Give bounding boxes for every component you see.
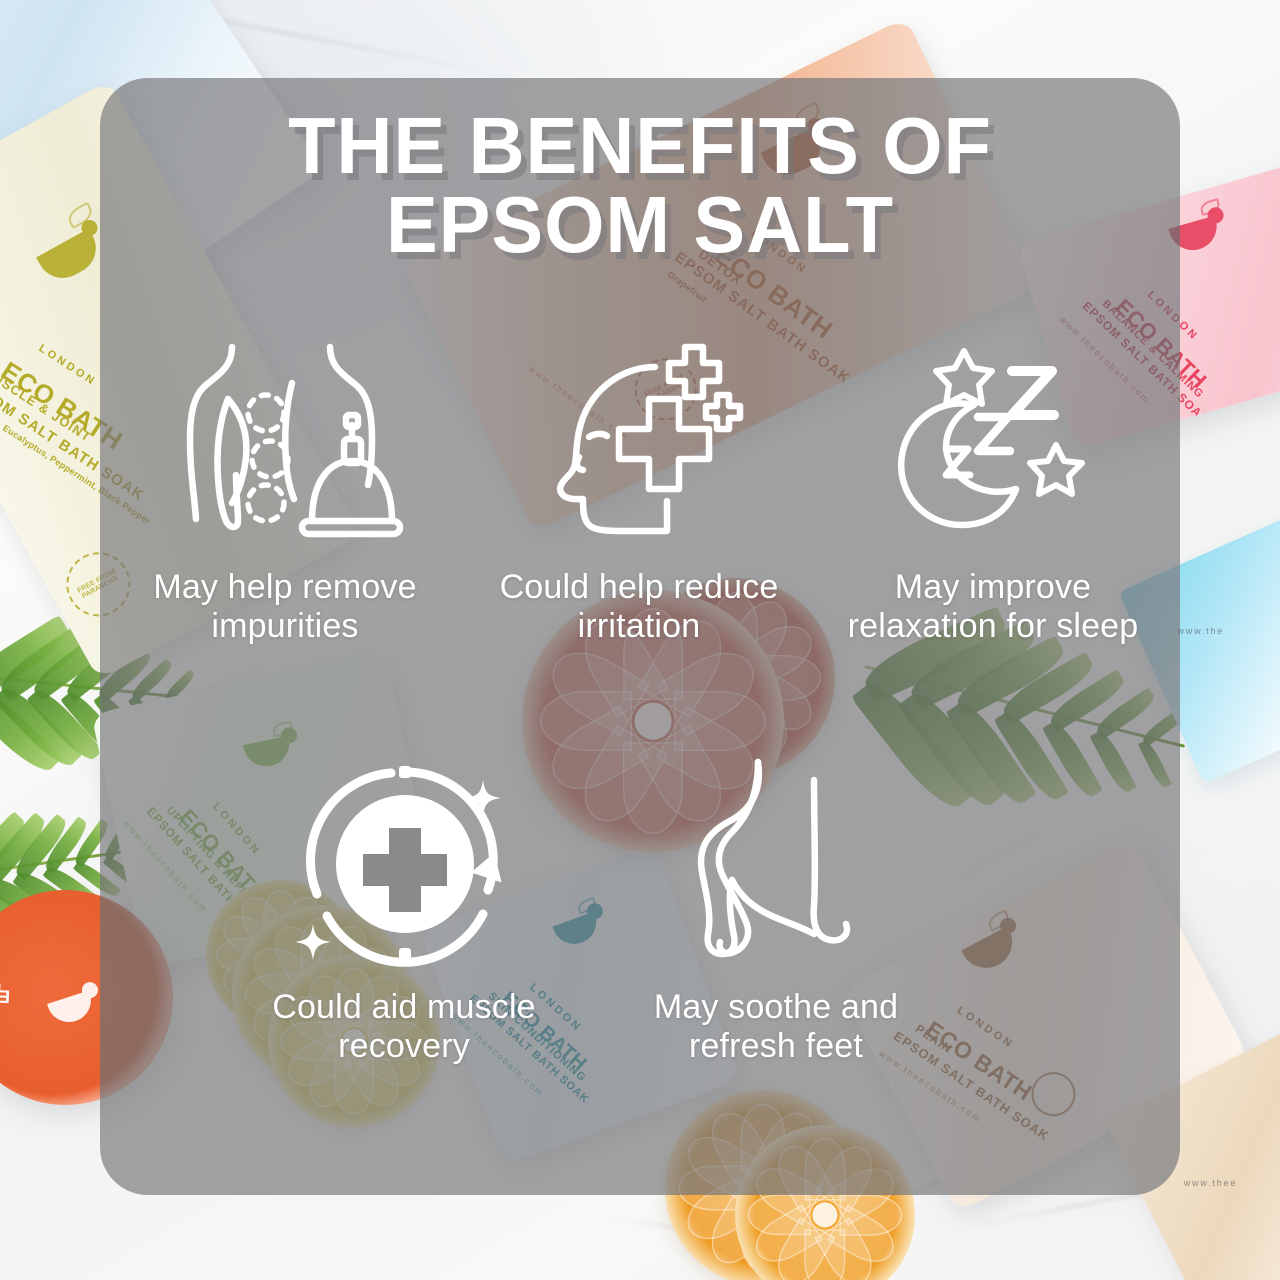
cupping-therapy-icon bbox=[170, 318, 400, 568]
title-line-1: THE BENEFITS OF bbox=[116, 106, 1164, 185]
moon-sleep-icon bbox=[878, 318, 1108, 568]
product-brand: ECO BATH bbox=[0, 983, 10, 1005]
benefits-row-top: May help remove impurities bbox=[108, 318, 1172, 738]
caption-line-1: Could aid muscle bbox=[272, 988, 536, 1027]
bathtub-logo-icon bbox=[36, 228, 105, 287]
packet-url: www.the bbox=[1177, 626, 1224, 636]
benefit-item-soothe-feet: May soothe and refresh feet bbox=[590, 738, 962, 1143]
benefit-item-improve-sleep: May improve relaxation for sleep bbox=[816, 318, 1170, 738]
benefit-item-reduce-irritation: Could help reduce irritation bbox=[462, 318, 816, 738]
benefit-caption: Could help reduce irritation bbox=[500, 568, 779, 647]
benefit-caption: May improve relaxation for sleep bbox=[848, 568, 1139, 647]
medical-cross-cycle-icon bbox=[287, 738, 522, 988]
bathtub-logo-icon bbox=[47, 990, 97, 1027]
benefit-item-remove-impurities: May help remove impurities bbox=[108, 318, 462, 738]
benefit-caption: May soothe and refresh feet bbox=[654, 988, 898, 1067]
caption-line-2: refresh feet bbox=[654, 1027, 898, 1066]
title-line-2: EPSOM SALT bbox=[116, 185, 1164, 264]
benefit-caption: May help remove impurities bbox=[153, 568, 416, 647]
infographic-stage: ECO BATH LONDON MUSCLE & JOINT EPSOM SAL… bbox=[0, 0, 1280, 1280]
caption-line-2: irritation bbox=[500, 607, 779, 646]
caption-line-1: May improve bbox=[848, 568, 1139, 607]
caption-line-1: May soothe and bbox=[654, 988, 898, 1027]
legs-feet-icon bbox=[666, 738, 886, 988]
page-title: THE BENEFITS OF EPSOM SALT bbox=[116, 106, 1164, 264]
caption-line-2: impurities bbox=[153, 607, 416, 646]
benefits-grid: May help remove impurities bbox=[108, 318, 1172, 1143]
benefits-row-bottom: Could aid muscle recovery bbox=[108, 738, 1172, 1143]
packet-url: www.thee bbox=[1184, 1178, 1237, 1188]
caption-line-1: Could help reduce bbox=[500, 568, 779, 607]
benefit-item-muscle-recovery: Could aid muscle recovery bbox=[218, 738, 590, 1143]
caption-line-2: relaxation for sleep bbox=[848, 607, 1139, 646]
infographic-content: THE BENEFITS OF EPSOM SALT bbox=[100, 78, 1180, 1195]
caption-line-1: May help remove bbox=[153, 568, 416, 607]
benefit-caption: Could aid muscle recovery bbox=[272, 988, 536, 1067]
head-wellness-icon bbox=[527, 318, 752, 568]
caption-line-2: recovery bbox=[272, 1027, 536, 1066]
